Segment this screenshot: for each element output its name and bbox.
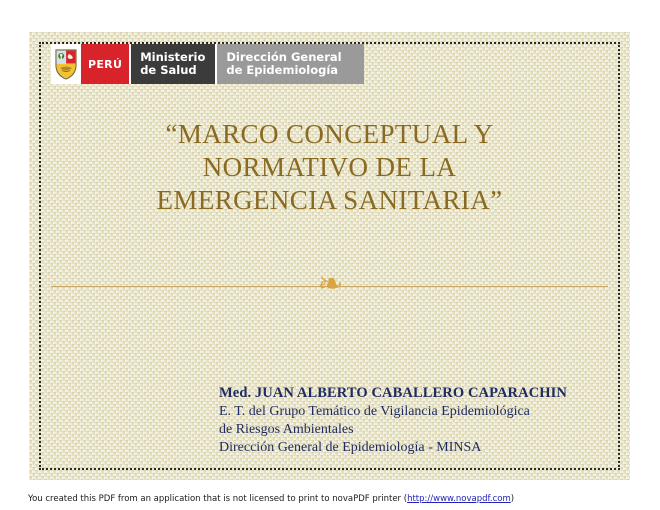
flourish-ornament-icon: ❧ [51, 264, 608, 304]
presenter-name: Med. JUAN ALBERTO CABALLERO CAPARACHIN [219, 384, 612, 403]
title-line-3: EMERGENCIA SANITARIA” [69, 184, 590, 217]
presentation-slide: PERÚ Ministerio de Salud Dirección Gener… [29, 32, 630, 480]
presenter-block: Med. JUAN ALBERTO CABALLERO CAPARACHIN E… [219, 384, 612, 457]
slide-title: “MARCO CONCEPTUAL Y NORMATIVO DE LA EMER… [69, 118, 590, 217]
title-line-1: “MARCO CONCEPTUAL Y [69, 118, 590, 151]
watermark-text-before: You created this PDF from an application… [28, 494, 407, 504]
epidemiology-directorate-block: Dirección General de Epidemiología [215, 44, 363, 84]
novapdf-watermark: You created this PDF from an application… [28, 494, 514, 504]
peru-coat-of-arms-icon [51, 44, 81, 84]
dge-line-2: de Epidemiología [226, 64, 341, 77]
presenter-affiliation-line-1: E. T. del Grupo Temático de Vigilancia E… [219, 403, 612, 421]
title-line-2: NORMATIVO DE LA [69, 151, 590, 184]
institutional-logo-bar: PERÚ Ministerio de Salud Dirección Gener… [51, 44, 364, 84]
peru-brand-block: PERÚ [81, 44, 129, 84]
ornament-divider: ❧ [51, 264, 608, 304]
presenter-affiliation-line-2: de Riesgos Ambientales [219, 421, 612, 439]
watermark-text-after: ) [511, 494, 514, 504]
ministry-line-2: de Salud [140, 64, 205, 77]
ministry-of-health-block: Ministerio de Salud [129, 44, 215, 84]
presenter-affiliation-line-3: Dirección General de Epidemiología - MIN… [219, 439, 612, 457]
novapdf-url-link[interactable]: http://www.novapdf.com [407, 494, 511, 504]
